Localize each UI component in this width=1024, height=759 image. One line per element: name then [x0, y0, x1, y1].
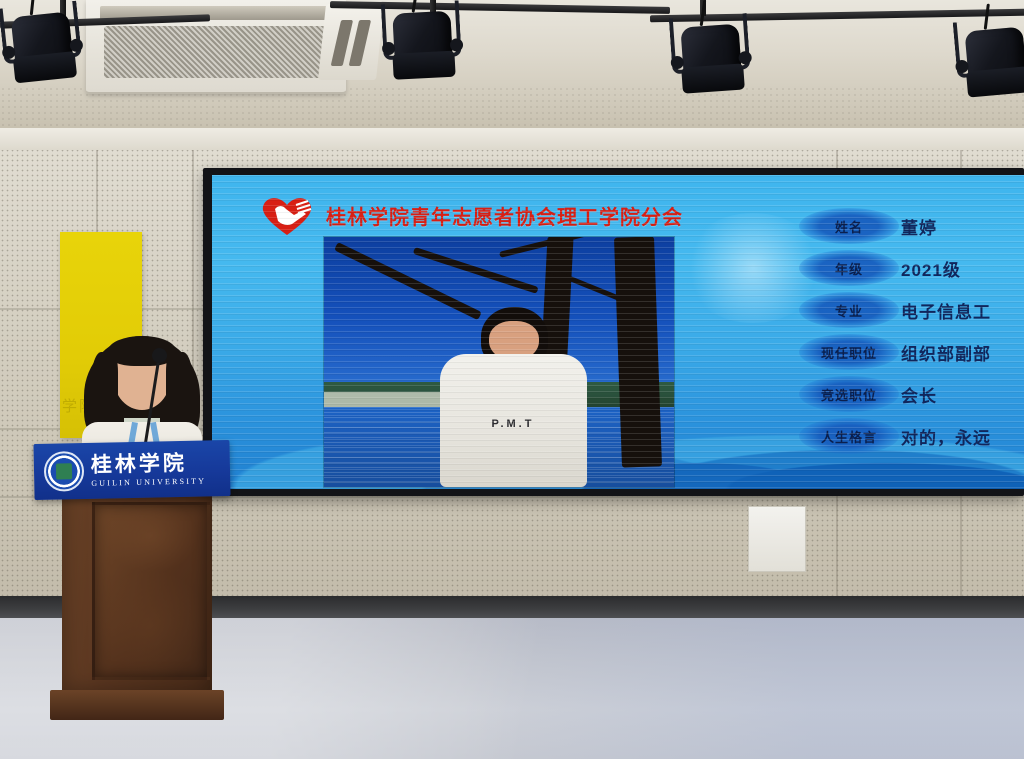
podium: 桂林学院 GUILIN UNIVERSITY	[48, 452, 224, 720]
info-value: 对的，永远	[901, 424, 991, 449]
led-screen-bezel: 桂林学院青年志愿者协会理工学院分会 P.M.T	[203, 168, 1024, 496]
info-value: 2021级	[901, 256, 961, 281]
university-emblem-icon	[44, 451, 85, 492]
light-lens	[13, 51, 77, 83]
info-label: 人生格言	[821, 427, 877, 446]
microphone-icon	[152, 348, 167, 363]
info-row: 姓名 董婷	[797, 205, 1024, 247]
info-row: 现任职位 组织部副部	[797, 331, 1024, 373]
presentation-stage-photo: 学院 桂林学院青年志愿者协会理工学院分会	[0, 0, 1024, 759]
info-value: 组织部副部	[901, 340, 991, 365]
info-row: 专业 电子信息工	[797, 289, 1024, 331]
podium-sign-cn: 桂林学院	[91, 452, 206, 475]
info-label: 现任职位	[821, 343, 877, 362]
info-value: 会长	[901, 382, 937, 407]
ac-unit-side-panel	[318, 4, 384, 80]
info-label-wrap: 竞选职位	[797, 376, 901, 412]
ac-vent-slat	[349, 20, 371, 66]
slide-title-row: 桂林学院青年志愿者协会理工学院分会	[258, 193, 683, 237]
podium-front-panel	[92, 502, 210, 680]
info-label-wrap: 专业	[797, 292, 901, 328]
podium-university-sign: 桂林学院 GUILIN UNIVERSITY	[33, 440, 230, 500]
ac-unit	[86, 0, 346, 94]
photo-person: P.M.T	[440, 307, 587, 487]
ac-unit-grille	[104, 26, 326, 78]
volunteer-heart-hand-icon	[258, 193, 316, 237]
info-label: 年级	[835, 259, 863, 278]
light-knob	[738, 51, 752, 65]
speaker-person	[78, 326, 206, 456]
wall-access-panel	[748, 506, 806, 572]
podium-base	[50, 690, 224, 720]
photo-person-hoodie: P.M.T	[440, 354, 587, 487]
podium-sign-en: GUILIN UNIVERSITY	[91, 477, 206, 487]
info-label-wrap: 现任职位	[797, 334, 901, 370]
info-label-wrap: 年级	[797, 250, 901, 286]
info-value: 电子信息工	[901, 298, 991, 323]
info-label: 竞选职位	[821, 385, 877, 404]
light-knob	[450, 38, 464, 52]
info-label-wrap: 姓名	[797, 208, 901, 244]
candidate-photo: P.M.T	[324, 237, 674, 487]
light-knob	[69, 38, 83, 52]
candidate-info-panel: 姓名 董婷 年级 2021级 专业 电子信息工	[797, 205, 1024, 457]
hoodie-print-text: P.M.T	[492, 418, 535, 430]
info-row: 人生格言 对的，永远	[797, 415, 1024, 457]
info-row: 年级 2021级	[797, 247, 1024, 289]
led-screen: 桂林学院青年志愿者协会理工学院分会 P.M.T	[212, 175, 1024, 489]
ceiling	[0, 0, 1024, 128]
info-label: 专业	[835, 301, 863, 320]
info-row: 竞选职位 会长	[797, 373, 1024, 415]
info-value: 董婷	[901, 214, 937, 239]
light-lens	[681, 63, 745, 93]
info-label-wrap: 人生格言	[797, 418, 901, 454]
info-label: 姓名	[835, 217, 863, 236]
light-lens	[392, 51, 455, 80]
slide-title: 桂林学院青年志愿者协会理工学院分会	[326, 201, 683, 230]
photo-tree-trunk	[614, 237, 662, 468]
light-lens	[966, 66, 1024, 97]
podium-wood-grain	[95, 505, 207, 677]
podium-sign-text: 桂林学院 GUILIN UNIVERSITY	[91, 452, 207, 487]
wall-soffit	[0, 128, 1024, 150]
